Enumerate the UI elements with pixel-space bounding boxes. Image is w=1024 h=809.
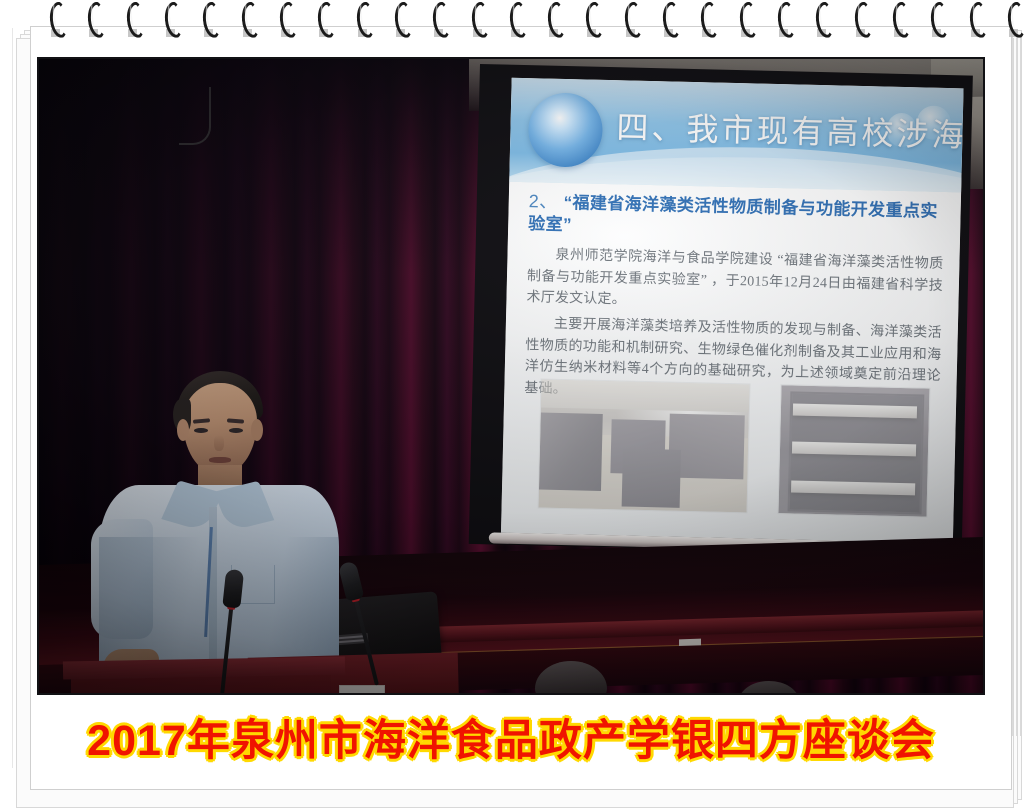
spiral-binding-ring-icon (740, 2, 753, 38)
spiral-binding-ring-icon (855, 2, 868, 38)
spiral-binding-ring-icon (433, 2, 446, 38)
spiral-binding-ring-icon (778, 2, 791, 38)
spiral-binding-ring-icon (510, 2, 523, 38)
spiral-binding-ring-icon (357, 2, 370, 38)
spiral-binding-ring-icon (203, 2, 216, 38)
spiral-binding-ring-icon (625, 2, 638, 38)
spiral-binding-ring-icon (318, 2, 331, 38)
spiral-binding-ring-icon (816, 2, 829, 38)
spiral-binding-ring-icon (701, 2, 714, 38)
spiral-binding-ring-icon (663, 2, 676, 38)
conference-photograph: 四、我市现有高校涉海平台 2、“福建省海洋藻类活性物质制备与功能开发重点实验室”… (37, 57, 985, 695)
spiral-binding-ring-icon (127, 2, 140, 38)
spiral-binding-ring-icon (395, 2, 408, 38)
decorative-page: 四、我市现有高校涉海平台 2、“福建省海洋藻类活性物质制备与功能开发重点实验室”… (0, 0, 1024, 809)
spiral-binding (0, 0, 1024, 42)
spiral-binding-ring-icon (88, 2, 101, 38)
spiral-binding-ring-icon (165, 2, 178, 38)
frame-guide-line-left (12, 28, 13, 768)
spiral-binding-ring-icon (548, 2, 561, 38)
spiral-binding-ring-icon (242, 2, 255, 38)
spiral-binding-ring-icon (1008, 2, 1021, 38)
spiral-binding-ring-icon (893, 2, 906, 38)
spiral-binding-ring-icon (586, 2, 599, 38)
photo-vignette (39, 59, 983, 693)
spiral-binding-ring-icon (50, 2, 63, 38)
photo-caption: 2017年泉州市海洋食品政产学银四方座谈会 (37, 706, 985, 768)
spiral-binding-ring-icon (472, 2, 485, 38)
spiral-binding-ring-icon (280, 2, 293, 38)
spiral-binding-ring-icon (970, 2, 983, 38)
spiral-binding-ring-icon (931, 2, 944, 38)
